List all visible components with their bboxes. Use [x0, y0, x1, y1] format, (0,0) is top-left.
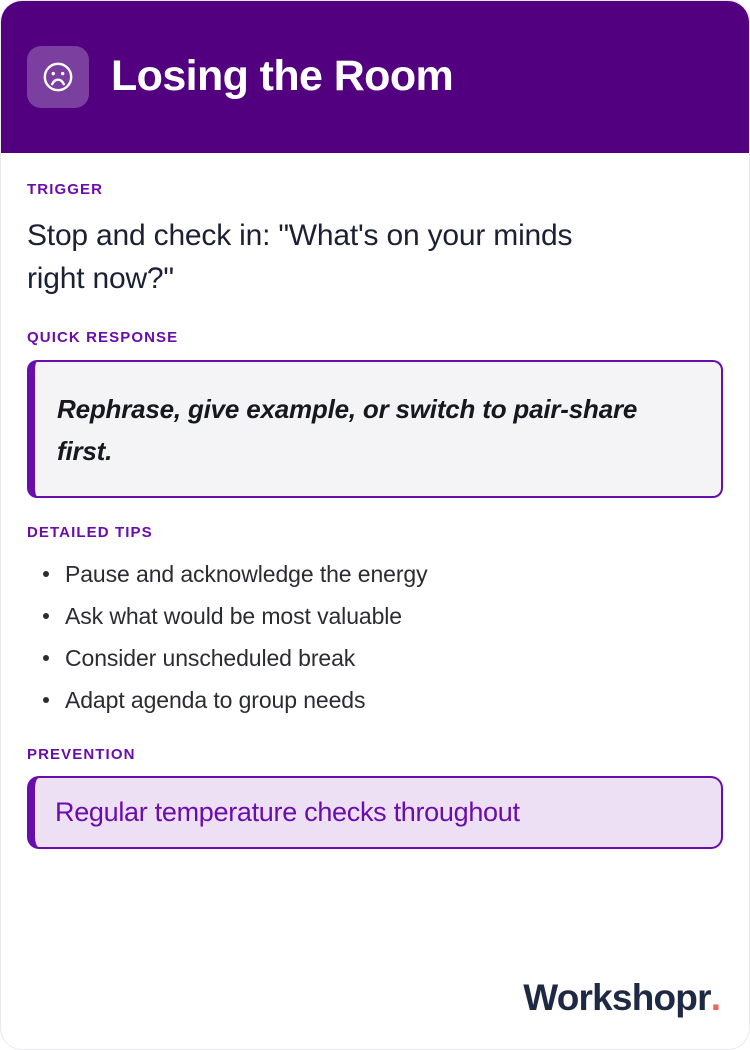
prevention-text: Regular temperature checks throughout — [55, 794, 699, 830]
section-label-trigger: TRIGGER — [27, 181, 723, 198]
card-body: TRIGGER Stop and check in: "What's on yo… — [1, 153, 749, 849]
list-item: Adapt agenda to group needs — [27, 679, 723, 721]
section-label-detailed-tips: DETAILED TIPS — [27, 524, 723, 541]
list-item: Pause and acknowledge the energy — [27, 553, 723, 595]
sad-face-icon — [27, 46, 89, 108]
card-title: Losing the Room — [111, 54, 453, 99]
quick-response-text: Rephrase, give example, or switch to pai… — [57, 388, 697, 472]
card-header: Losing the Room — [1, 1, 749, 153]
prevention-box: Regular temperature checks throughout — [27, 776, 723, 848]
brand-name: Workshopr — [523, 977, 710, 1019]
section-label-quick-response: QUICK RESPONSE — [27, 329, 723, 346]
list-item: Ask what would be most valuable — [27, 595, 723, 637]
brand-dot-icon: . — [711, 977, 721, 1019]
section-label-prevention: PREVENTION — [27, 746, 723, 763]
trigger-text: Stop and check in: "What's on your minds… — [27, 215, 617, 301]
quick-response-box: Rephrase, give example, or switch to pai… — [27, 360, 723, 498]
troubleshooting-card: Losing the Room TRIGGER Stop and check i… — [0, 0, 750, 1050]
brand-logo: Workshopr . — [523, 977, 721, 1019]
list-item: Consider unscheduled break — [27, 637, 723, 679]
detailed-tips-list: Pause and acknowledge the energy Ask wha… — [27, 553, 723, 721]
